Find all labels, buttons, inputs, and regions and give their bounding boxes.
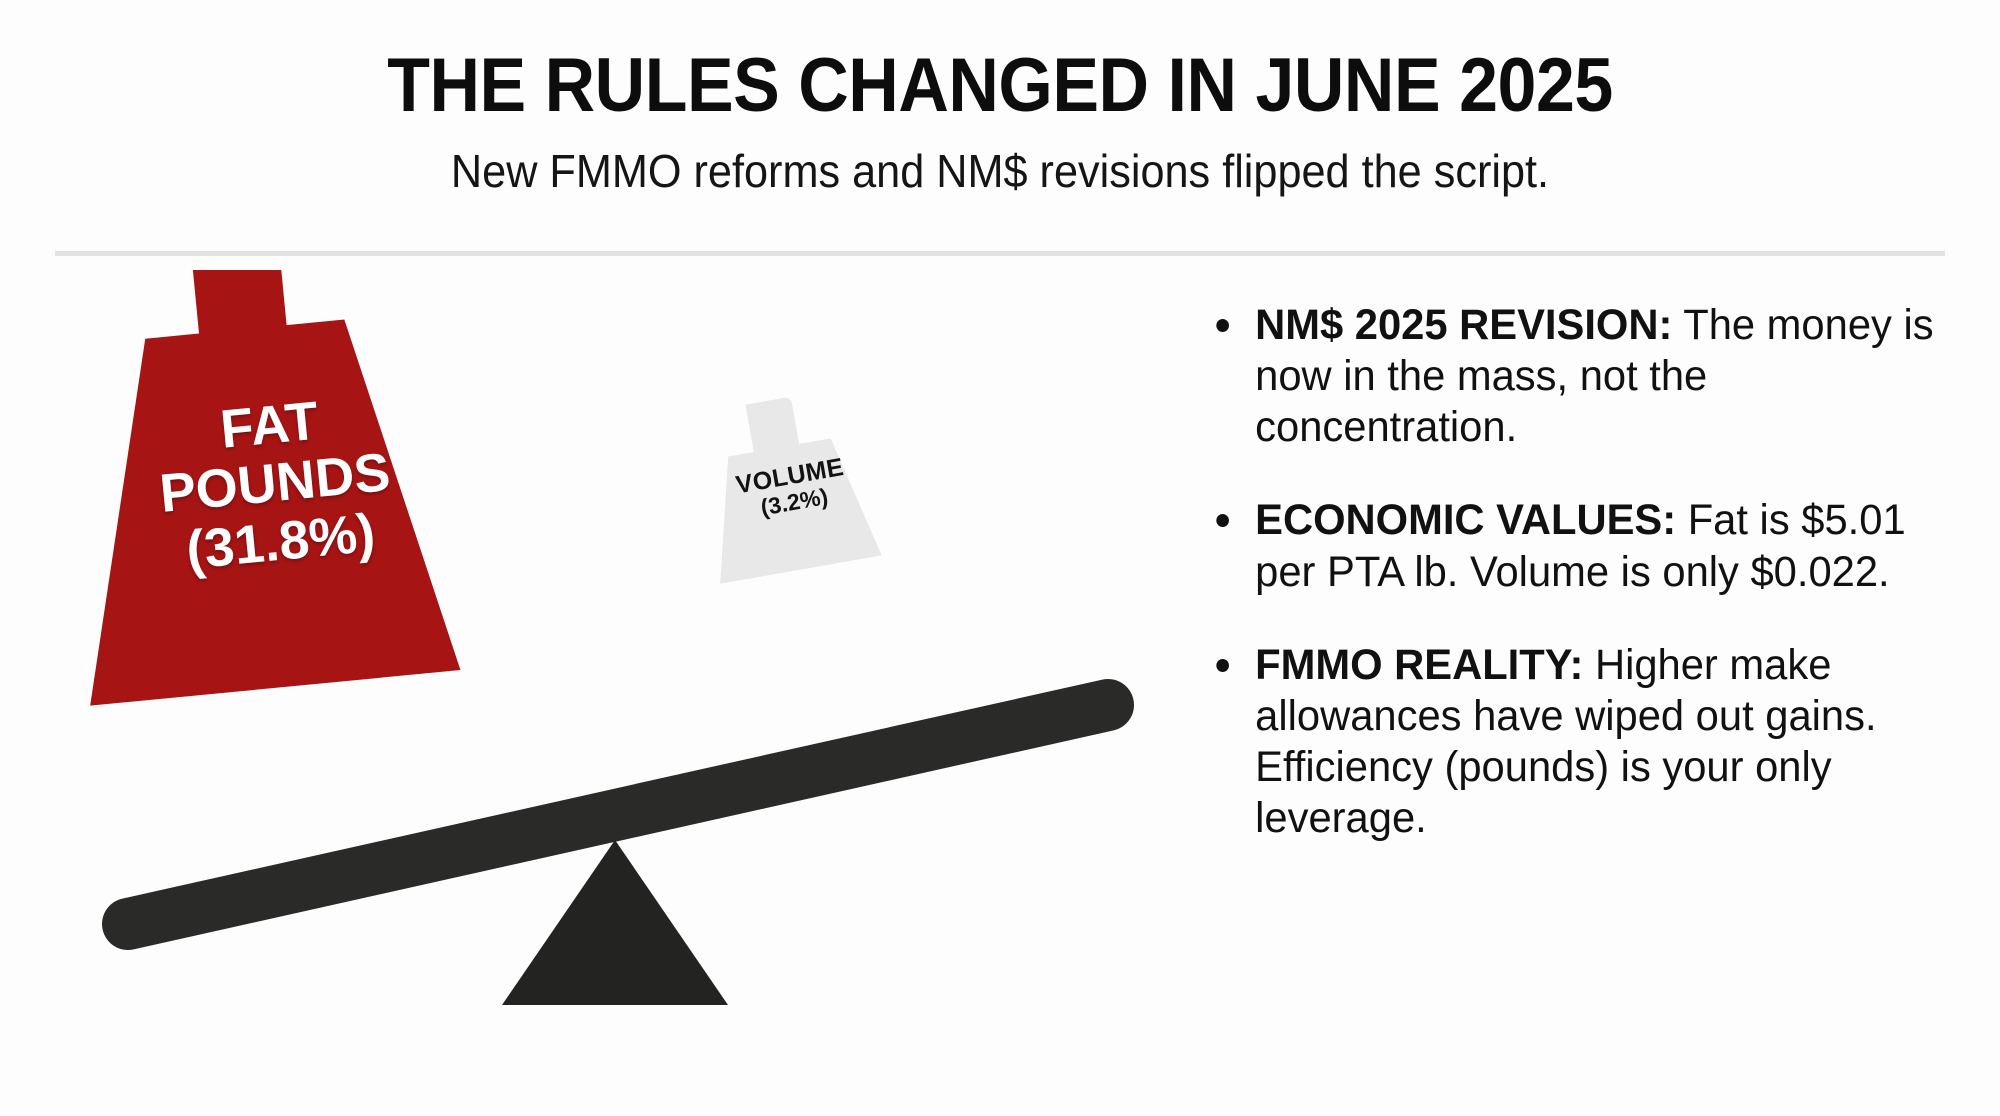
bullet-lead: FMMO REALITY: [1255, 641, 1583, 689]
bullet-lead: NM$ 2025 REVISION: [1255, 301, 1672, 349]
fat-weight-shape [49, 270, 461, 706]
key-points-list: NM$ 2025 REVISION: The money is now in t… [1195, 300, 1985, 844]
volume-weight-shape [690, 386, 881, 584]
balance-scale-svg [0, 270, 1160, 1116]
page-subtitle: New FMMO reforms and NM$ revisions flipp… [60, 146, 1940, 197]
bullet-dot-icon [1216, 514, 1229, 527]
bullet-dot-icon [1216, 319, 1229, 332]
slide-root: THE RULES CHANGED IN JUNE 2025 New FMMO … [0, 0, 2000, 1116]
list-item: NM$ 2025 REVISION: The money is now in t… [1195, 300, 1961, 453]
bullet-lead: ECONOMIC VALUES: [1255, 496, 1676, 544]
header-divider [55, 251, 1945, 256]
fulcrum-triangle [502, 840, 728, 1005]
page-title: THE RULES CHANGED IN JUNE 2025 [80, 48, 1920, 124]
header: THE RULES CHANGED IN JUNE 2025 New FMMO … [0, 48, 2000, 197]
bullet-dot-icon [1216, 659, 1229, 672]
list-item: ECONOMIC VALUES: Fat is $5.01 per PTA lb… [1195, 495, 1961, 597]
list-item: FMMO REALITY: Higher make allowances hav… [1195, 640, 1961, 845]
balance-scale-illustration: FAT POUNDS (31.8%) VOLUME (3.2%) [0, 270, 1160, 1116]
